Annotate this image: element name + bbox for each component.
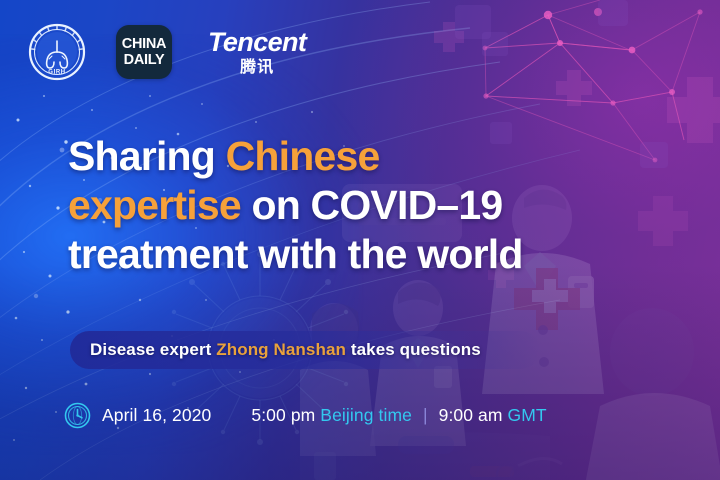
svg-text:GIRH: GIRH — [48, 70, 65, 76]
headline-line2-white: on COVID–19 — [241, 182, 503, 228]
promo-banner: GIRH CHINA DAILY Tencent 腾讯 Sharing Chin… — [0, 0, 720, 480]
china-daily-logo: CHINA DAILY — [116, 25, 172, 79]
subtitle-person-name: Zhong Nanshan — [216, 340, 346, 359]
headline-line1-accent: Chinese — [226, 133, 380, 179]
subtitle-prefix: Disease expert — [90, 340, 216, 359]
time-separator: | — [423, 405, 428, 426]
subtitle-suffix: takes questions — [346, 340, 481, 359]
event-times: 5:00 pm Beijing time|9:00 am GMT — [251, 405, 546, 426]
timezone-gmt: GMT — [508, 405, 547, 425]
time-gmt: 9:00 am — [439, 405, 508, 425]
clock-icon — [64, 402, 91, 429]
headline-line1-white: Sharing — [68, 133, 226, 179]
event-date: April 16, 2020 — [102, 405, 211, 426]
headline-line-2: expertise on COVID–19 — [68, 181, 523, 230]
china-daily-line1: CHINA — [122, 37, 166, 52]
time-beijing: 5:00 pm — [251, 405, 320, 425]
headline-line2-accent: expertise — [68, 182, 241, 228]
logo-row: GIRH CHINA DAILY Tencent 腾讯 — [28, 20, 306, 84]
headline-line-3: treatment with the world — [68, 230, 523, 279]
datetime-row: April 16, 2020 5:00 pm Beijing time|9:00… — [64, 402, 547, 429]
timezone-beijing: Beijing time — [320, 405, 412, 425]
tencent-logo: Tencent 腾讯 — [208, 29, 306, 75]
headline-line-1: Sharing Chinese — [68, 132, 523, 181]
girh-seal-logo: GIRH — [28, 23, 86, 81]
subtitle: Disease expert Zhong Nanshan takes quest… — [90, 340, 481, 360]
page-title: Sharing Chinese expertise on COVID–19 tr… — [68, 132, 523, 280]
tencent-latin-wordmark: Tencent — [208, 29, 306, 56]
tencent-chinese-wordmark: 腾讯 — [240, 59, 274, 75]
headline-line3-white: treatment with the world — [68, 231, 523, 277]
china-daily-line2: DAILY — [124, 53, 165, 68]
